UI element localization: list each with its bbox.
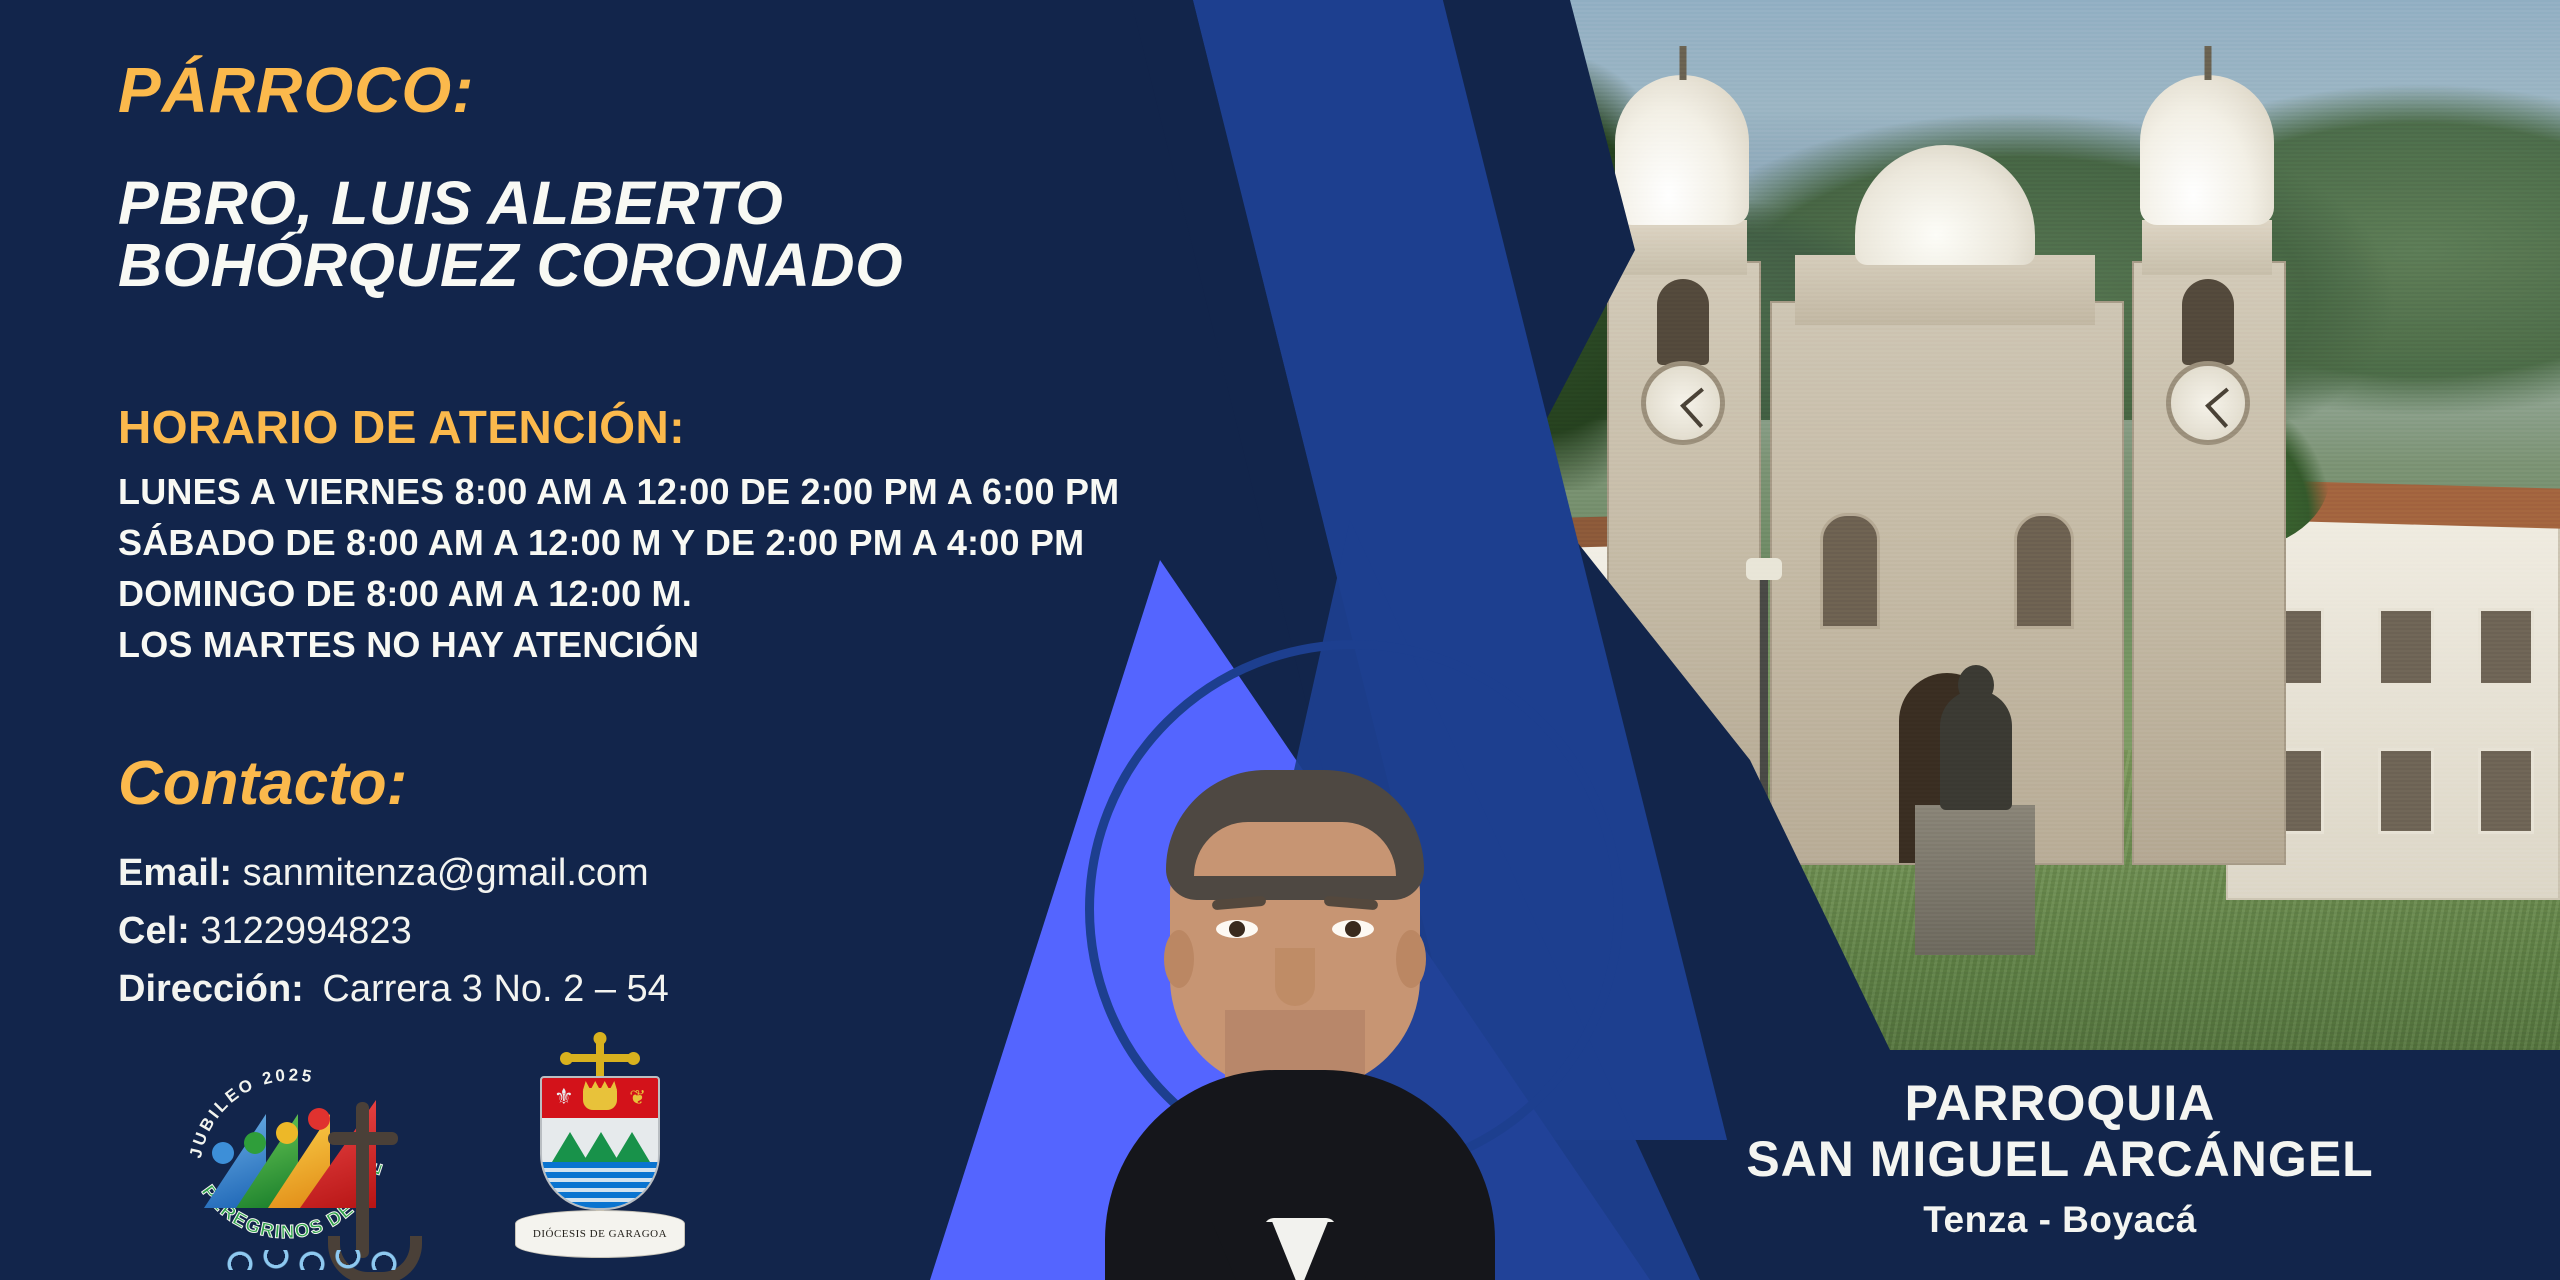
contact-address-row: Dirección: Carrera 3 No. 2 – 54 (118, 961, 669, 1019)
parish-location: Tenza - Boyacá (1700, 1199, 2420, 1241)
schedule-heading: HORARIO DE ATENCIÓN: (118, 400, 685, 454)
priest-ear-right (1396, 930, 1426, 988)
contact-address-value: Carrera 3 No. 2 – 54 (322, 968, 668, 1010)
schedule-line-weekdays: LUNES A VIERNES 8:00 AM A 12:00 DE 2:00 … (118, 466, 1119, 517)
schedule-line-tuesday-closed: LOS MARTES NO HAY ATENCIÓN (118, 619, 1119, 670)
fleur-de-lis-icon: ⚜ (554, 1086, 574, 1108)
contact-cel-value[interactable]: 3122994823 (200, 910, 411, 952)
parish-line-1: PARROQUIA (1700, 1075, 2420, 1131)
sprig-icon: ❦ (629, 1088, 646, 1108)
contact-email-label: Email: (118, 852, 232, 894)
contact-email-value[interactable]: sanmitenza@gmail.com (243, 852, 649, 894)
coat-banner: DIÓCESIS DE GARAGOA (515, 1210, 685, 1258)
shield-chief-red: ⚜ ❦ (542, 1078, 658, 1118)
contact-email-row: Email: sanmitenza@gmail.com (118, 845, 669, 903)
contact-details: Email: sanmitenza@gmail.com Cel: 3122994… (118, 845, 669, 1018)
logo-row: JUBILEO 2025 PEREGRINOS DE LA ESPERANZA (170, 1040, 690, 1270)
jubilee-2025-logo: JUBILEO 2025 PEREGRINOS DE LA ESPERANZA (170, 1040, 400, 1265)
coat-cross-horizontal (566, 1054, 634, 1062)
jubilee-wave-icon (222, 1250, 412, 1270)
priest-name-line-1: PBRO, LUIS ALBERTO (118, 172, 903, 234)
jubilee-boat-figures (204, 1098, 374, 1208)
coat-shield: ⚜ ❦ (540, 1076, 660, 1210)
contact-cel-row: Cel: 3122994823 (118, 903, 669, 961)
shield-base-water (542, 1162, 658, 1208)
diocese-coat-of-arms: ⚜ ❦ DIÓCESIS DE GARAGOA (510, 1040, 690, 1270)
contact-heading: Contacto: (118, 748, 407, 819)
parroco-label: PÁRROCO: (118, 58, 474, 123)
priest-name-line-2: BOHÓRQUEZ CORONADO (118, 234, 903, 296)
parish-line-2: SAN MIGUEL ARCÁNGEL (1700, 1131, 2420, 1187)
parish-info-poster: PÁRROCO: PBRO, LUIS ALBERTO BOHÓRQUEZ CO… (0, 0, 2560, 1280)
contact-cel-label: Cel: (118, 910, 190, 952)
schedule-line-sunday: DOMINGO DE 8:00 AM A 12:00 M. (118, 568, 1119, 619)
crown-icon (583, 1088, 617, 1110)
priest-name-heading: PBRO, LUIS ALBERTO BOHÓRQUEZ CORONADO (118, 172, 903, 296)
mountain-icon-3 (614, 1132, 650, 1162)
contact-address-label: Dirección: (118, 968, 304, 1010)
parish-name-block: PARROQUIA SAN MIGUEL ARCÁNGEL Tenza - Bo… (1700, 1075, 2420, 1241)
schedule-line-saturday: SÁBADO DE 8:00 AM A 12:00 M Y DE 2:00 PM… (118, 517, 1119, 568)
jubilee-cross-icon (356, 1102, 369, 1258)
text-column: PÁRROCO: PBRO, LUIS ALBERTO BOHÓRQUEZ CO… (0, 0, 1400, 1280)
schedule-lines: LUNES A VIERNES 8:00 AM A 12:00 DE 2:00 … (118, 466, 1119, 670)
